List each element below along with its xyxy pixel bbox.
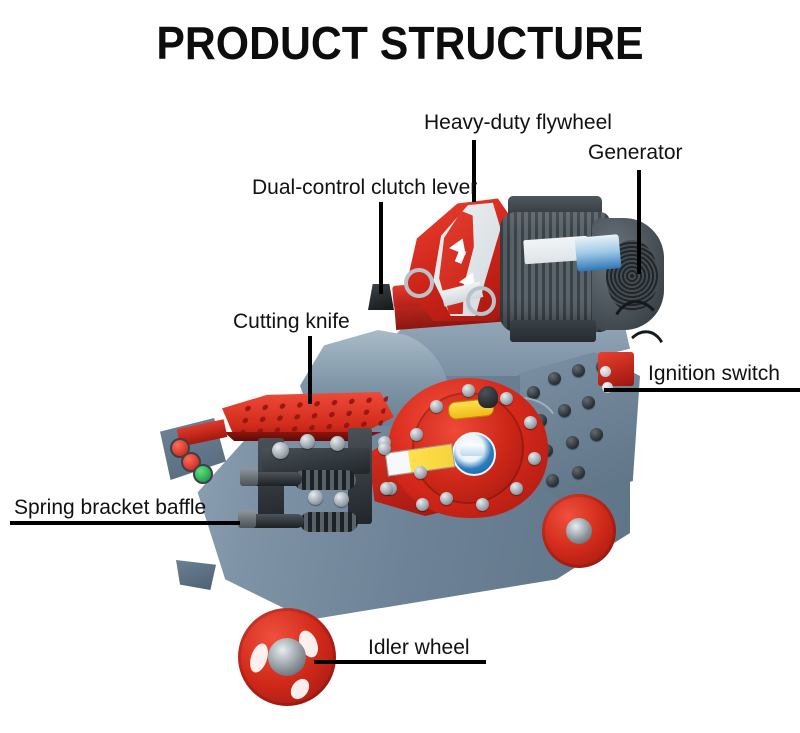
clamp-bolt [380, 482, 393, 495]
gearbox-bolt [510, 482, 523, 495]
clamp-spring-upper [294, 470, 356, 490]
start-button[interactable] [193, 464, 213, 484]
callout-label-spring-bracket-baffle: Spring bracket baffle [14, 497, 206, 518]
lifting-eye-bolt [404, 268, 434, 298]
gearbox-bolt [414, 466, 427, 479]
rear-wheel-hub [566, 518, 592, 544]
callout-label-cutting-knife: Cutting knife [233, 311, 350, 332]
lifting-eye-bolt [466, 286, 496, 316]
callout-label-idler-wheel: Idler wheel [368, 637, 470, 658]
clamp-bolt [308, 490, 323, 505]
machine-front-foot [176, 560, 216, 590]
side-bolt [546, 474, 559, 487]
callout-label-dual-control-clutch-lever: Dual-control clutch lever [252, 177, 477, 198]
gearbox-bolt [410, 428, 423, 441]
gearbox-bolt [528, 452, 541, 465]
clamp-nut-upper [240, 468, 258, 486]
side-bolt [590, 428, 603, 441]
gearbox-bolt [524, 416, 537, 429]
clamp-bolt [330, 436, 345, 451]
ignition-switch-terminal[interactable] [600, 366, 611, 377]
side-bolt [558, 404, 571, 417]
diagram-canvas: PRODUCT STRUCTURE [0, 0, 800, 733]
gearbox-bolt [416, 498, 429, 511]
side-bolt [566, 436, 579, 449]
side-bolt [572, 466, 585, 479]
side-bolt [572, 364, 585, 377]
idler-wheel-hub [268, 638, 306, 676]
side-bolt [582, 396, 595, 409]
leader-line-ignition-switch [604, 388, 800, 392]
clamp-bolt [334, 492, 349, 507]
gearbox-bolt [500, 392, 513, 405]
leader-line-cutting-knife [308, 336, 312, 404]
motor-brand-label [575, 234, 622, 272]
clamp-bolt [378, 442, 391, 455]
clamp-bolt [272, 442, 289, 459]
clamp-nut-lower [238, 510, 256, 528]
callout-label-heavy-duty-flywheel: Heavy-duty flywheel [424, 112, 612, 133]
side-bolt [548, 372, 561, 385]
callout-label-generator: Generator [588, 142, 683, 163]
oil-fill-knob [478, 386, 498, 408]
leader-line-dual-control-clutch-lever [379, 202, 383, 294]
gearbox-bolt [462, 384, 475, 397]
leader-line-idler-wheel [314, 660, 486, 664]
clamp-spring-lower [300, 512, 358, 532]
brand-logo-text [460, 444, 484, 456]
gearbox-bolt [476, 498, 489, 511]
leader-line-spring-bracket-baffle [10, 521, 240, 525]
callout-label-ignition-switch: Ignition switch [648, 363, 780, 384]
leader-line-generator [637, 170, 641, 274]
clamp-bolt [300, 434, 315, 449]
gearbox-bolt [440, 492, 453, 505]
motor-mounting-foot [510, 320, 596, 342]
gearbox-bolt [430, 400, 443, 413]
